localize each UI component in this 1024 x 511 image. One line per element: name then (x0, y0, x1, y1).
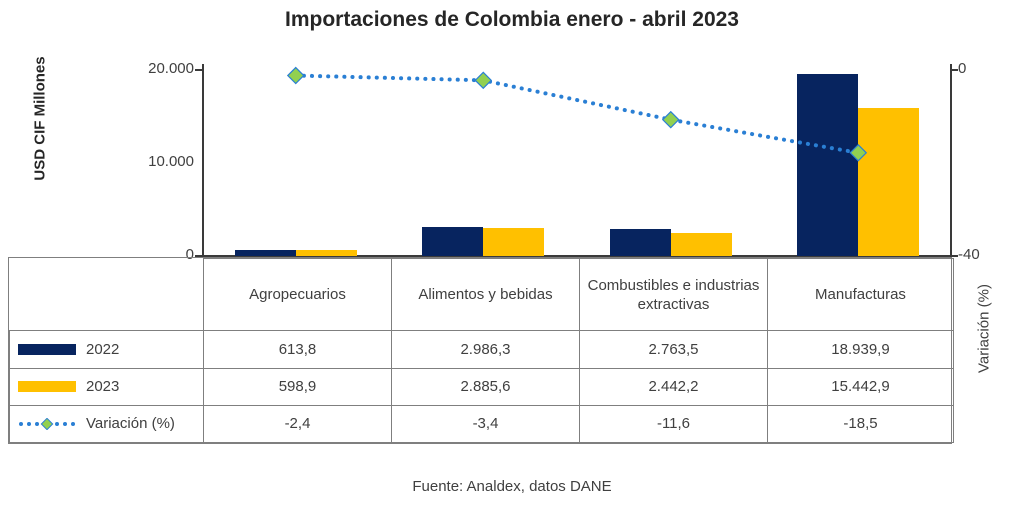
legend-swatch-2022-icon (18, 344, 76, 355)
bar-group (235, 64, 357, 256)
table-col-header-1: Alimentos y bebidas (392, 259, 580, 331)
bar-2023[interactable] (671, 233, 732, 256)
y-axis-left-ticks: 20.000 10.000 0 (60, 0, 194, 260)
table-cell: -18,5 (768, 405, 954, 442)
bar-2022[interactable] (235, 250, 296, 256)
tick-left-top (195, 69, 202, 71)
table-cell: -3,4 (392, 405, 580, 442)
bar-2022[interactable] (797, 74, 858, 256)
table-col-header-3: Manufacturas (768, 259, 954, 331)
y-axis-right-title: Variación (%) (976, 239, 993, 419)
bar-group (610, 64, 732, 256)
y2-tick-minus40: -40 (958, 246, 980, 263)
y-axis-left-title: USD CIF Millones (32, 19, 49, 219)
bar-2022[interactable] (422, 227, 483, 256)
legend-swatch-variacion-icon (18, 418, 76, 430)
bar-2022[interactable] (610, 229, 671, 256)
y-axis-right-ticks: 0 -40 (958, 0, 1018, 260)
table-col-header-0: Agropecuarios (204, 259, 392, 331)
y-tick-20000: 20.000 (148, 60, 194, 77)
table-cell: 613,8 (204, 331, 392, 368)
bar-series-layer (202, 64, 952, 256)
tick-right-top (951, 69, 958, 71)
legend-swatch-2023-icon (18, 381, 76, 392)
table-row: 2022 613,8 2.986,3 2.763,5 18.939,9 (10, 331, 954, 368)
data-table: Agropecuarios Alimentos y bebidas Combus… (8, 257, 952, 444)
legend-item-2023[interactable]: 2023 (10, 368, 204, 405)
table-cell: -2,4 (204, 405, 392, 442)
table-cell: 18.939,9 (768, 331, 954, 368)
bar-2023[interactable] (483, 228, 544, 256)
bar-2023[interactable] (858, 108, 919, 256)
legend-item-2022[interactable]: 2022 (10, 331, 204, 368)
legend-label-2022: 2022 (86, 340, 119, 359)
table-row: Variación (%) -2,4 -3,4 -11,6 -18,5 (10, 405, 954, 442)
legend-item-variacion[interactable]: Variación (%) (10, 405, 204, 442)
tick-right-bottom (951, 255, 958, 257)
table-cell: -11,6 (580, 405, 768, 442)
bar-group (797, 64, 919, 256)
table-cell: 15.442,9 (768, 368, 954, 405)
table-header-row: Agropecuarios Alimentos y bebidas Combus… (10, 259, 954, 331)
bar-group (422, 64, 544, 256)
table-cell: 2.986,3 (392, 331, 580, 368)
bar-2023[interactable] (296, 250, 357, 256)
table-col-header-2: Combustibles e industrias extractivas (580, 259, 768, 331)
table-cell: 2.442,2 (580, 368, 768, 405)
table-cell: 598,9 (204, 368, 392, 405)
table-cell: 2.885,6 (392, 368, 580, 405)
table-cell: 2.763,5 (580, 331, 768, 368)
y2-tick-0: 0 (958, 60, 966, 77)
y-tick-10000: 10.000 (148, 153, 194, 170)
legend-label-2023: 2023 (86, 377, 119, 396)
table-corner-cell (10, 259, 204, 331)
source-note: Fuente: Analdex, datos DANE (0, 478, 1024, 495)
table-row: 2023 598,9 2.885,6 2.442,2 15.442,9 (10, 368, 954, 405)
legend-label-variacion: Variación (%) (86, 414, 175, 433)
chart-container: Importaciones de Colombia enero - abril … (0, 0, 1024, 511)
